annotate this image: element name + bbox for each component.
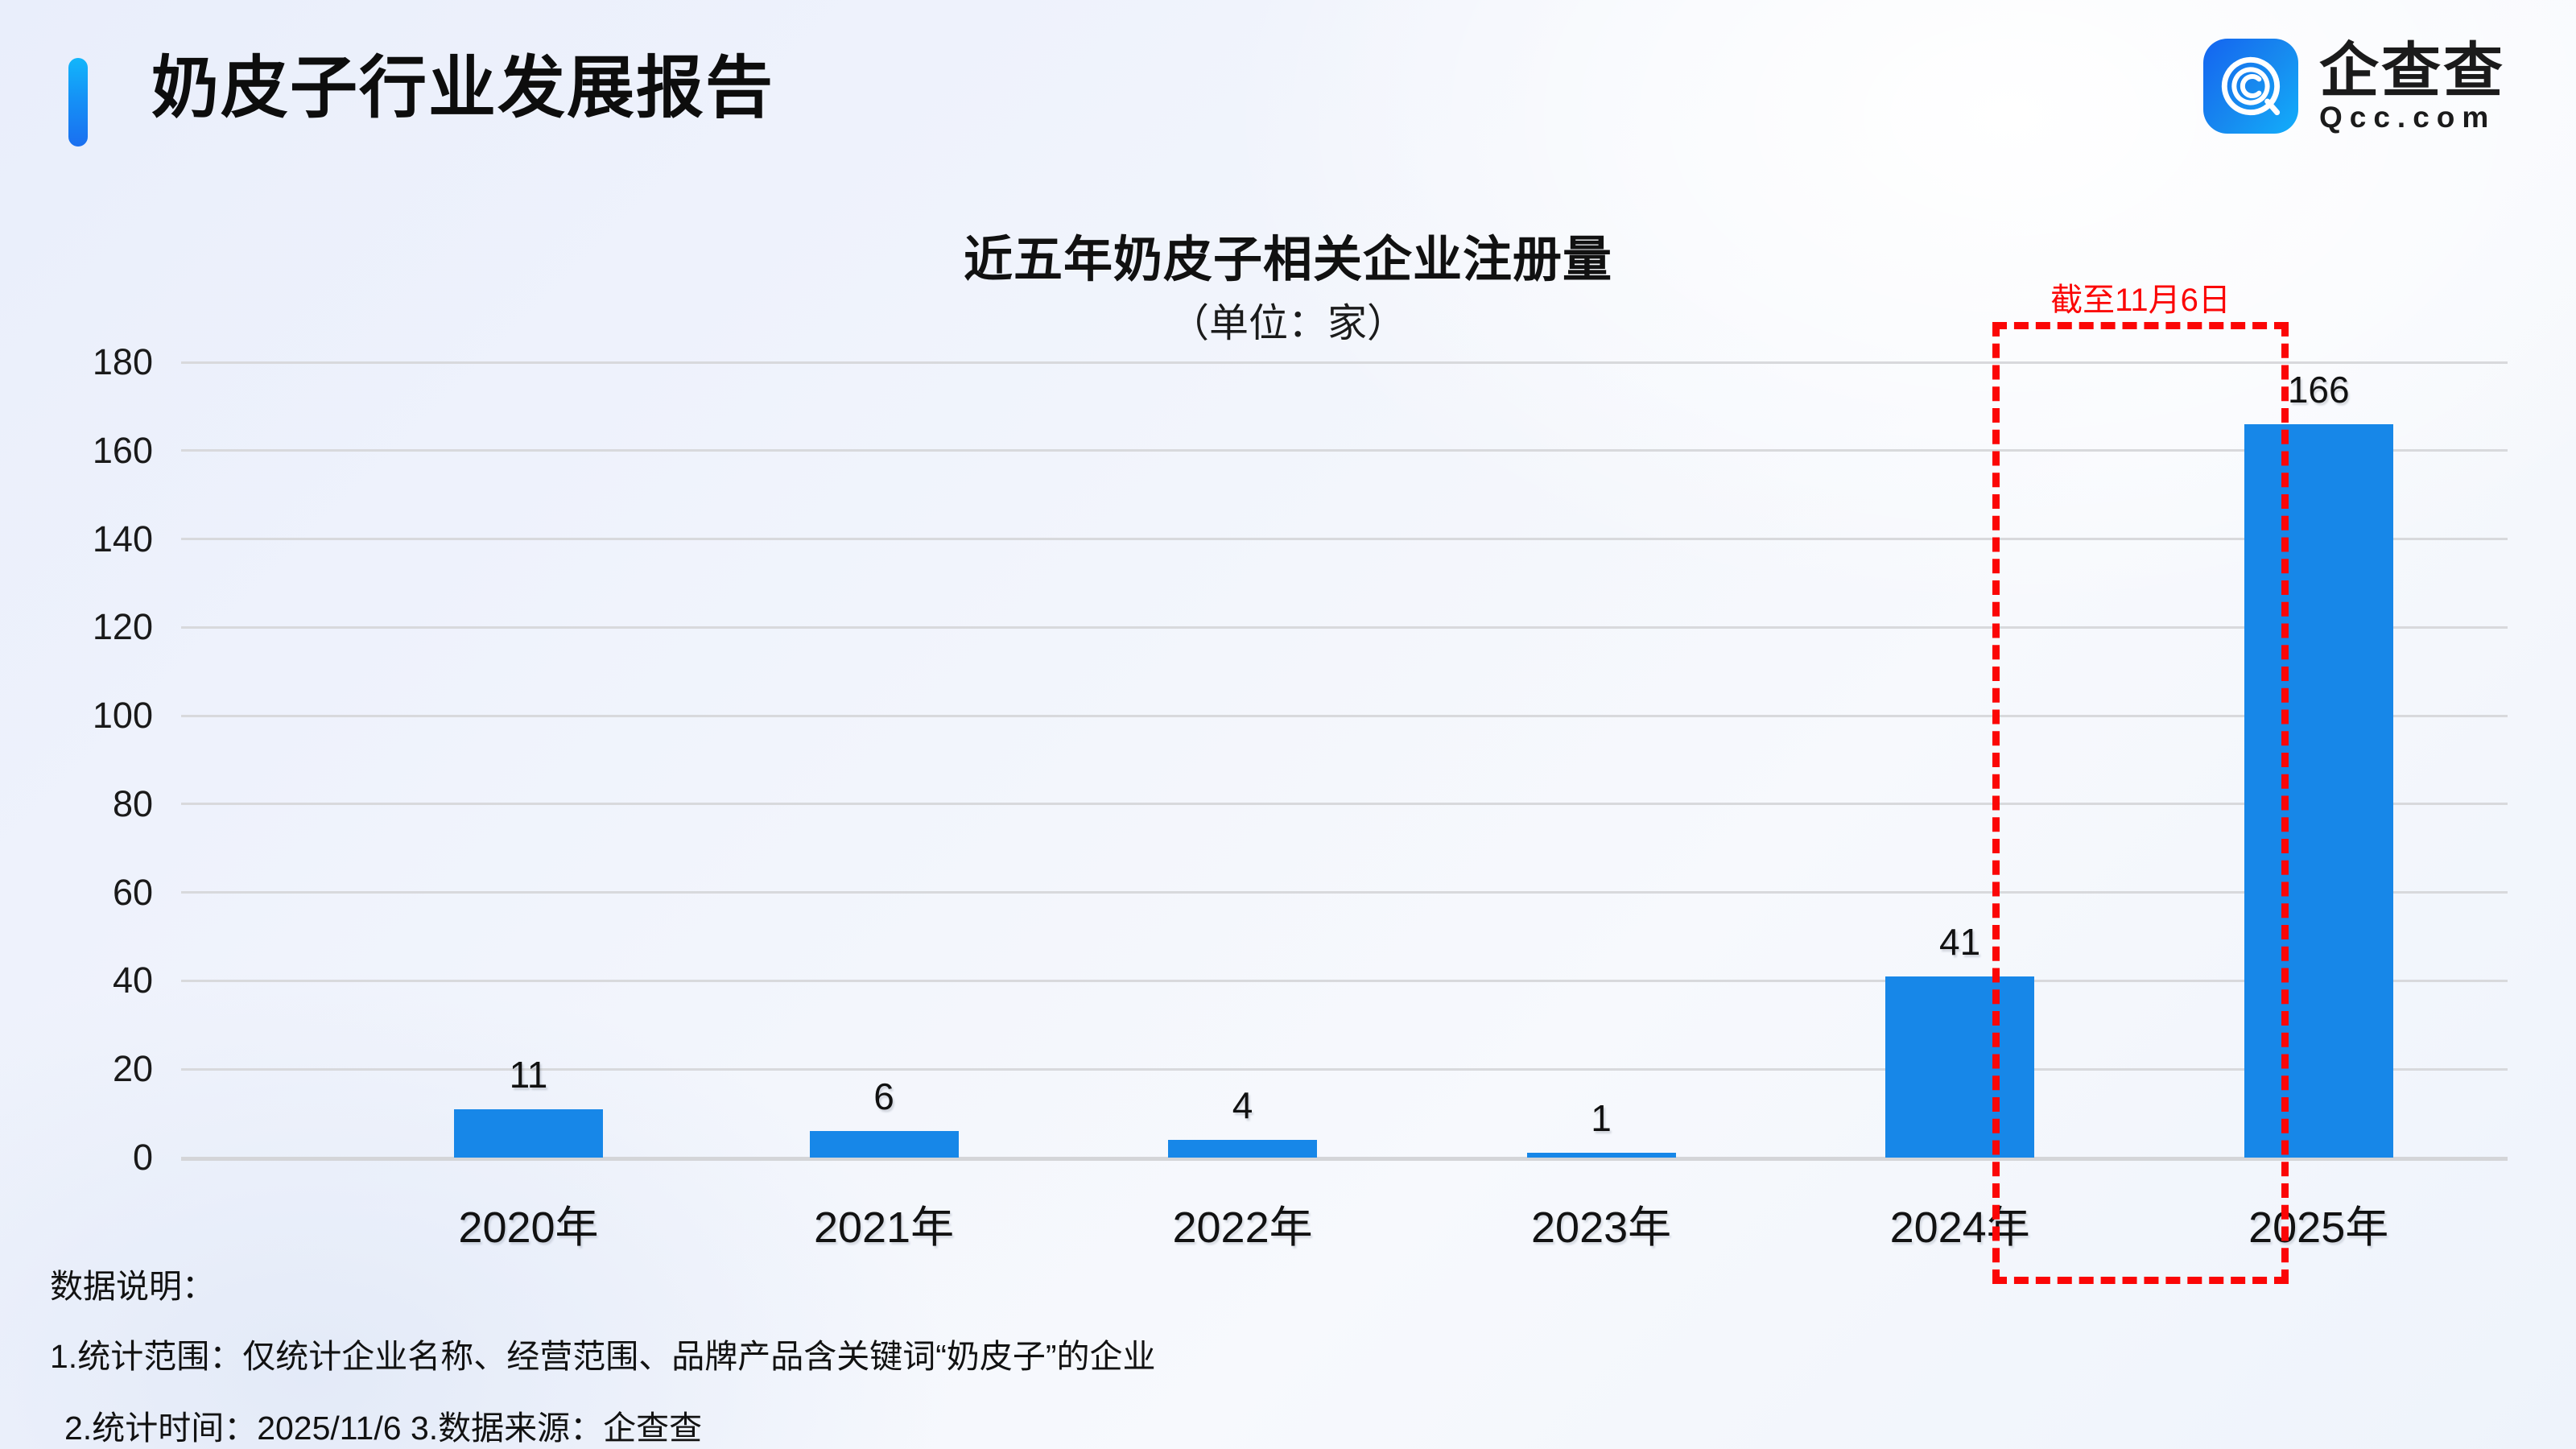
- qcc-logo-mark-icon: [2203, 39, 2298, 134]
- annotation-label: 截至11月6日: [1992, 274, 2289, 320]
- bar[interactable]: [1527, 1153, 1676, 1158]
- y-axis-tick-label: 180: [24, 341, 153, 383]
- y-axis-tick-label: 160: [24, 430, 153, 472]
- bar[interactable]: [810, 1131, 959, 1158]
- page-title: 奶皮子行业发展报告: [151, 47, 774, 129]
- x-axis-tick-label: 2022年: [1172, 1191, 1312, 1255]
- bar-value-label: 41: [1939, 920, 1980, 964]
- qcc-brand-cn: 企查查: [2319, 41, 2505, 101]
- qcc-logo: 企查查 Qcc.com: [2203, 39, 2505, 134]
- y-axis-tick-label: 80: [24, 783, 153, 825]
- y-axis-tick-label: 60: [24, 872, 153, 914]
- footnote-time-source: 2.统计时间：2025/11/6 3.数据来源：企查查: [64, 1412, 1982, 1445]
- bar-value-label: 166: [2288, 368, 2350, 411]
- footnote-scope: 1.统计范围：仅统计企业名称、经营范围、品牌产品含关键词“奶皮子”的企业: [50, 1340, 1982, 1373]
- y-axis-tick-label: 120: [24, 606, 153, 648]
- y-axis-tick-label: 40: [24, 960, 153, 1001]
- bar[interactable]: [454, 1109, 603, 1158]
- title-accent-bar: [68, 58, 88, 147]
- y-axis-tick-label: 20: [24, 1048, 153, 1090]
- bar-value-label: 11: [510, 1053, 548, 1096]
- y-axis-tick-label: 100: [24, 695, 153, 737]
- x-axis-tick-label: 2021年: [814, 1191, 954, 1255]
- footnote-heading: 数据说明：: [50, 1270, 1982, 1303]
- y-axis-tick-label: 0: [24, 1137, 153, 1179]
- y-axis-tick-label: 140: [24, 518, 153, 560]
- footnotes: 数据说明： 1.统计范围：仅统计企业名称、经营范围、品牌产品含关键词“奶皮子”的…: [50, 1270, 1982, 1445]
- bar[interactable]: [1168, 1140, 1317, 1158]
- bar-value-label: 4: [1232, 1084, 1253, 1127]
- x-axis-tick-label: 2020年: [458, 1191, 598, 1255]
- page-header: 奶皮子行业发展报告 企查查 Qcc.com: [0, 0, 2576, 201]
- bar-value-label: 6: [873, 1075, 894, 1118]
- annotation-highlight-box: [1992, 322, 2289, 1284]
- qcc-logo-wordmark: 企查查 Qcc.com: [2319, 41, 2505, 132]
- qcc-brand-en: Qcc.com: [2319, 102, 2495, 132]
- x-axis-tick-label: 2023年: [1531, 1191, 1671, 1255]
- bar-value-label: 1: [1591, 1096, 1612, 1140]
- chart-page: 奶皮子行业发展报告 企查查 Qcc.com 近五年奶皮子相关企业注册量 （单位：…: [0, 0, 2576, 1449]
